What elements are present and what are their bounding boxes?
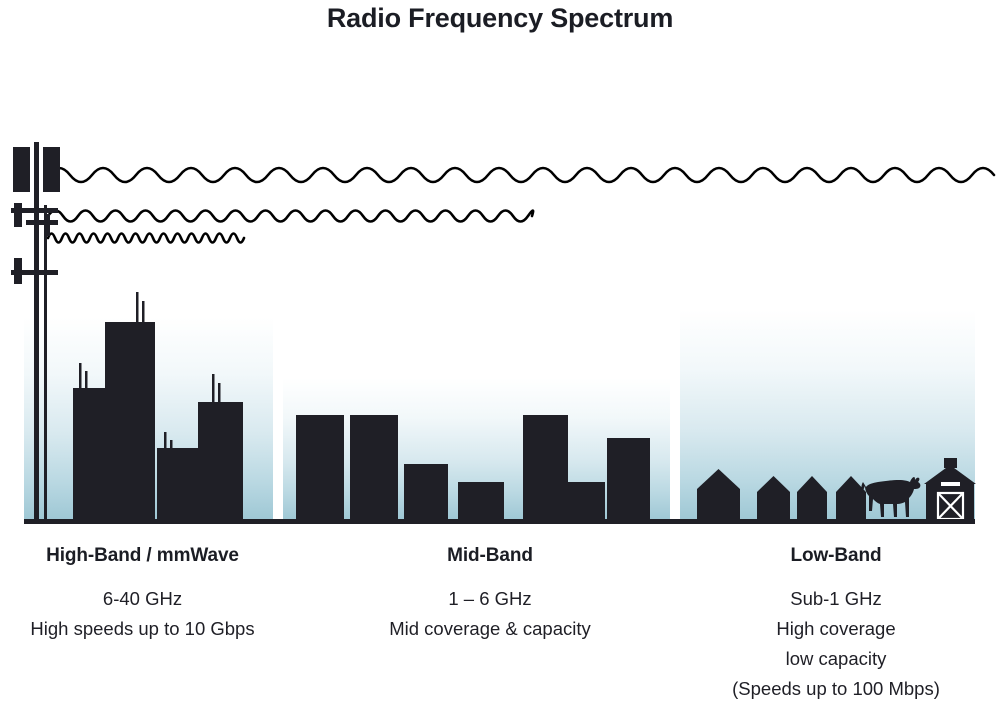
tower-mast-secondary xyxy=(44,205,47,519)
band-column-mid: Mid-Band 1 – 6 GHz Mid coverage & capaci… xyxy=(345,545,635,644)
tower-panel-mid-left xyxy=(14,203,22,227)
band-line: 1 – 6 GHz xyxy=(345,584,635,614)
band-column-high: High-Band / mmWave 6-40 GHz High speeds … xyxy=(0,545,285,644)
building xyxy=(198,402,243,519)
band-title-low: Low-Band xyxy=(672,545,1000,567)
building xyxy=(404,464,448,519)
wave-high-frequency-icon xyxy=(48,234,244,243)
building xyxy=(296,415,344,519)
building-spire xyxy=(212,374,215,404)
barn-cupola xyxy=(944,458,957,468)
building-spire xyxy=(79,363,82,391)
band-line: 6-40 GHz xyxy=(0,584,285,614)
tower-crossbar-upper2 xyxy=(26,220,58,225)
wave-low-frequency-icon xyxy=(48,168,994,182)
ground-line xyxy=(24,519,975,524)
building xyxy=(607,438,650,519)
building-spire xyxy=(142,301,145,324)
band-column-low: Low-Band Sub-1 GHz High coverage low cap… xyxy=(672,545,1000,704)
band-line: High speeds up to 10 Gbps xyxy=(0,614,285,644)
building xyxy=(73,388,105,519)
radio-waves xyxy=(48,168,994,243)
tower-panel-mid-right xyxy=(44,214,50,236)
band-line: High coverage xyxy=(672,614,1000,644)
building xyxy=(105,322,155,519)
infographic-root: Radio Frequency Spectrum xyxy=(0,0,1000,700)
band-title-mid: Mid-Band xyxy=(345,545,635,567)
band-description-low: Sub-1 GHz High coverage low capacity (Sp… xyxy=(672,584,1000,704)
building-spire xyxy=(164,432,167,450)
building-spire xyxy=(218,383,221,404)
tower-panel-upper-right xyxy=(43,147,60,192)
band-description-high: 6-40 GHz High speeds up to 10 Gbps xyxy=(0,584,285,644)
band-title-high: High-Band / mmWave xyxy=(0,545,285,567)
building xyxy=(350,415,398,519)
building xyxy=(568,482,605,519)
building xyxy=(458,482,504,519)
band-description-mid: 1 – 6 GHz Mid coverage & capacity xyxy=(345,584,635,644)
building xyxy=(523,415,568,519)
wave-mid-frequency-icon xyxy=(48,211,533,222)
tower-mast xyxy=(34,142,39,519)
band-line: low capacity xyxy=(672,644,1000,674)
tower-panel-upper-left xyxy=(13,147,30,192)
barn-hayloft-window xyxy=(941,482,960,486)
tower-panel-low-left xyxy=(14,258,22,284)
band-line: Sub-1 GHz xyxy=(672,584,1000,614)
building-spire xyxy=(136,292,139,324)
band-line: Mid coverage & capacity xyxy=(345,614,635,644)
